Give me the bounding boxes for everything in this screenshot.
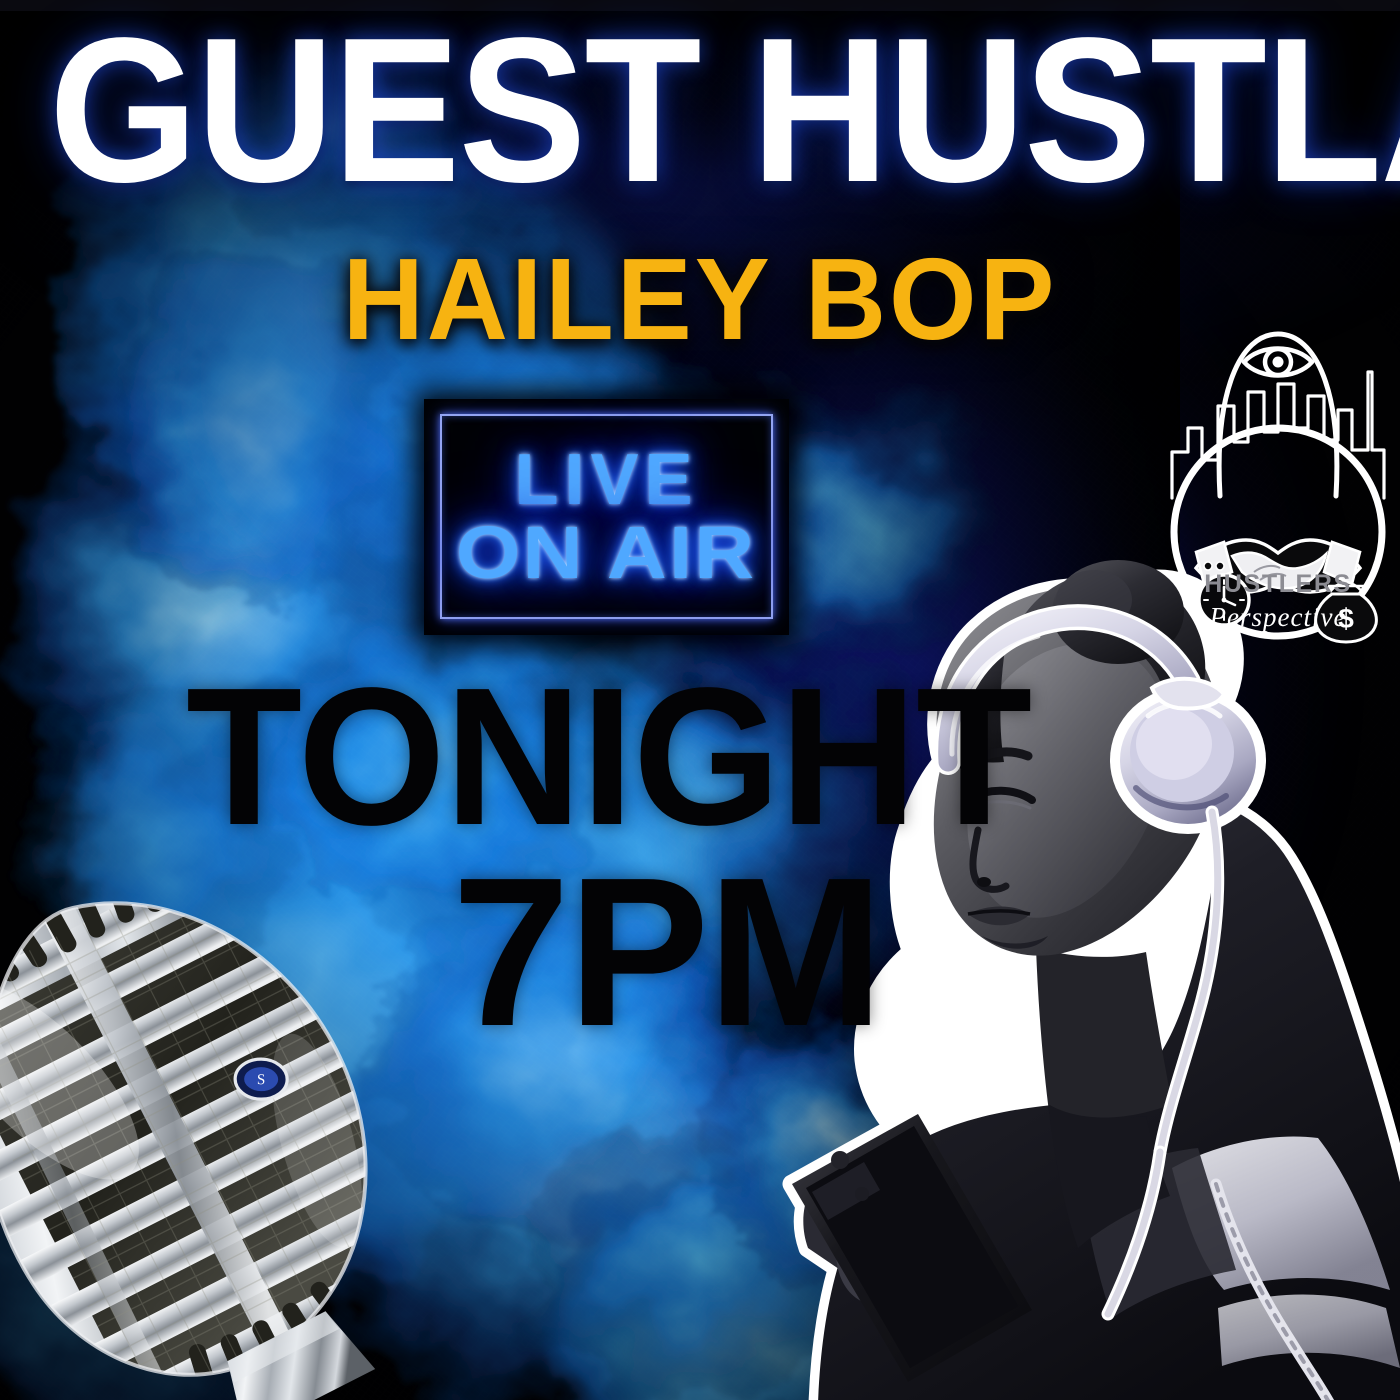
schedule-day: TONIGHT — [186, 664, 1031, 850]
neon-text-on-air: ON AIR — [456, 517, 756, 588]
promo-poster: GUEST HUSTLA HAILEY BOP LIVE ON AIR TONI… — [0, 0, 1400, 1400]
city-skyline-icon — [1172, 372, 1384, 498]
logo-brand-name: HUSTLERS — [1204, 570, 1352, 598]
neon-text-live: LIVE — [514, 446, 698, 515]
vintage-microphone-icon: S — [0, 876, 484, 1400]
live-on-air-sign: LIVE ON AIR — [424, 399, 789, 635]
hustlers-perspective-logo: $ HUSTLERS Perspective — [1162, 300, 1394, 668]
eye-icon — [1244, 349, 1312, 376]
poster-title: GUEST HUSTLA — [49, 10, 1351, 210]
svg-text:S: S — [257, 1072, 266, 1088]
schedule-time: 7PM — [452, 852, 882, 1052]
logo-brand-tagline: Perspective — [1209, 602, 1347, 632]
